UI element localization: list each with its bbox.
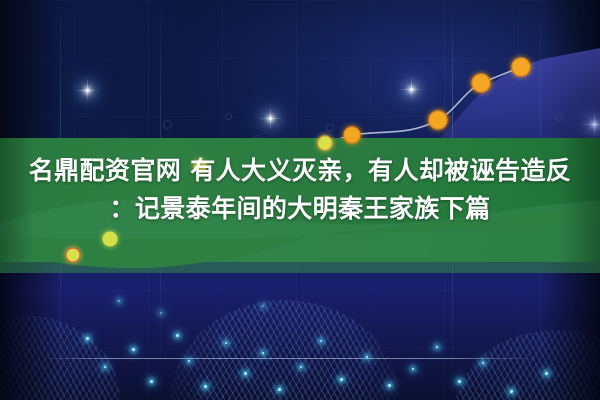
particle bbox=[150, 380, 153, 383]
particle bbox=[225, 342, 227, 344]
particle bbox=[176, 334, 179, 337]
particle bbox=[118, 300, 120, 302]
particle bbox=[482, 362, 484, 364]
glow-star-icon bbox=[86, 89, 89, 92]
bubble-ring-icon bbox=[225, 113, 232, 120]
bubble-ring-icon bbox=[555, 113, 563, 121]
particle bbox=[412, 368, 414, 370]
page-title: 名鼎配资官网 有人大义灭亲，有人却被诬告造反 ：记景泰年间的大明秦王家族下篇 bbox=[0, 152, 600, 228]
particle bbox=[86, 337, 89, 340]
particle bbox=[104, 366, 106, 368]
particle bbox=[320, 340, 322, 342]
particle bbox=[244, 372, 247, 375]
particle bbox=[188, 360, 190, 362]
particle bbox=[132, 348, 135, 351]
horizon-rule bbox=[40, 358, 540, 359]
particle bbox=[278, 388, 281, 391]
particle bbox=[300, 366, 302, 368]
particle bbox=[388, 384, 391, 387]
particle bbox=[545, 372, 548, 375]
bubble-ring-icon bbox=[163, 120, 172, 129]
particle bbox=[160, 312, 162, 314]
particle bbox=[204, 385, 207, 388]
particle bbox=[262, 352, 264, 354]
particle bbox=[510, 390, 513, 393]
glow-star-icon bbox=[269, 117, 272, 120]
headline-line-2: ：记景泰年间的大明秦王家族下篇 bbox=[14, 190, 586, 228]
banner-image: 名鼎配资官网 有人大义灭亲，有人却被诬告造反 ：记景泰年间的大明秦王家族下篇 bbox=[0, 0, 600, 400]
glow-star-icon bbox=[593, 123, 596, 126]
particle bbox=[340, 378, 343, 381]
bubble-ring-icon bbox=[326, 124, 334, 132]
particle bbox=[436, 346, 438, 348]
particle bbox=[262, 305, 264, 307]
glow-star-icon bbox=[410, 88, 413, 91]
particle bbox=[458, 380, 461, 383]
particle bbox=[366, 356, 368, 358]
headline-line-1: 名鼎配资官网 有人大义灭亲，有人却被诬告造反 bbox=[29, 156, 572, 185]
